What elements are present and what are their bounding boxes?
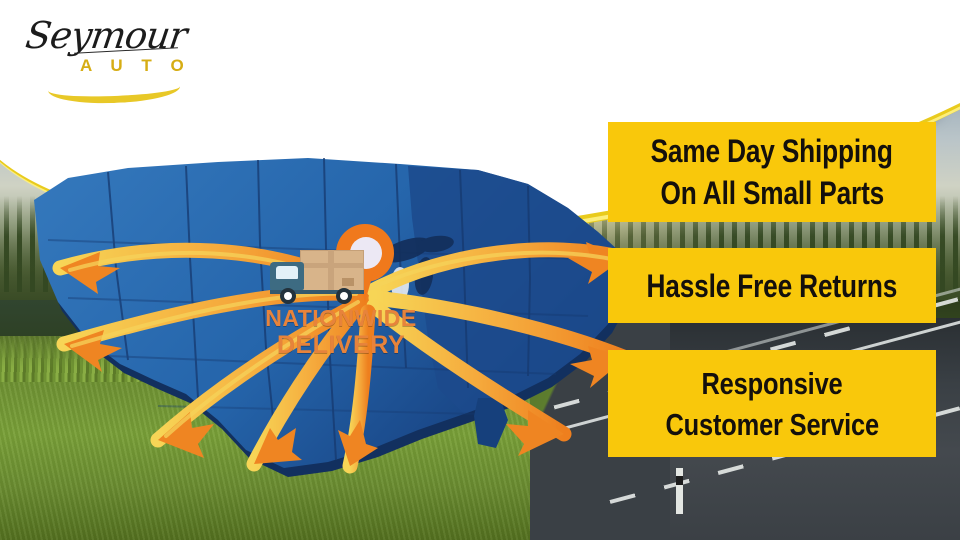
truck-box-label [342,278,354,286]
caption-line-1: NATIONWIDE [246,306,436,330]
feature-banner-responsive-customer-service[interactable]: Responsive Customer Service [608,350,936,457]
brand-logo[interactable]: Seymour A U T O [22,14,202,98]
feature-banner-hassle-free-returns[interactable]: Hassle Free Returns [608,248,936,323]
banner-line: Responsive [701,363,842,404]
roadside-post [676,468,683,514]
promo-banner-stage: Seymour A U T O [0,0,960,540]
truck-wheel [336,288,352,304]
caption-line-2: DELIVERY [246,332,436,358]
truck-box-tape [328,250,334,291]
feature-banner-same-day-shipping[interactable]: Same Day Shipping On All Small Parts [608,122,936,222]
truck-window [276,266,298,279]
truck-wheel [280,288,296,304]
banner-line: Same Day Shipping [651,130,893,172]
banner-line: Hassle Free Returns [647,267,898,305]
banner-line: On All Small Parts [660,172,884,214]
banner-line: Customer Service [665,404,879,445]
nationwide-delivery-caption: NATIONWIDE DELIVERY [246,306,436,358]
delivery-truck-icon [270,250,366,302]
